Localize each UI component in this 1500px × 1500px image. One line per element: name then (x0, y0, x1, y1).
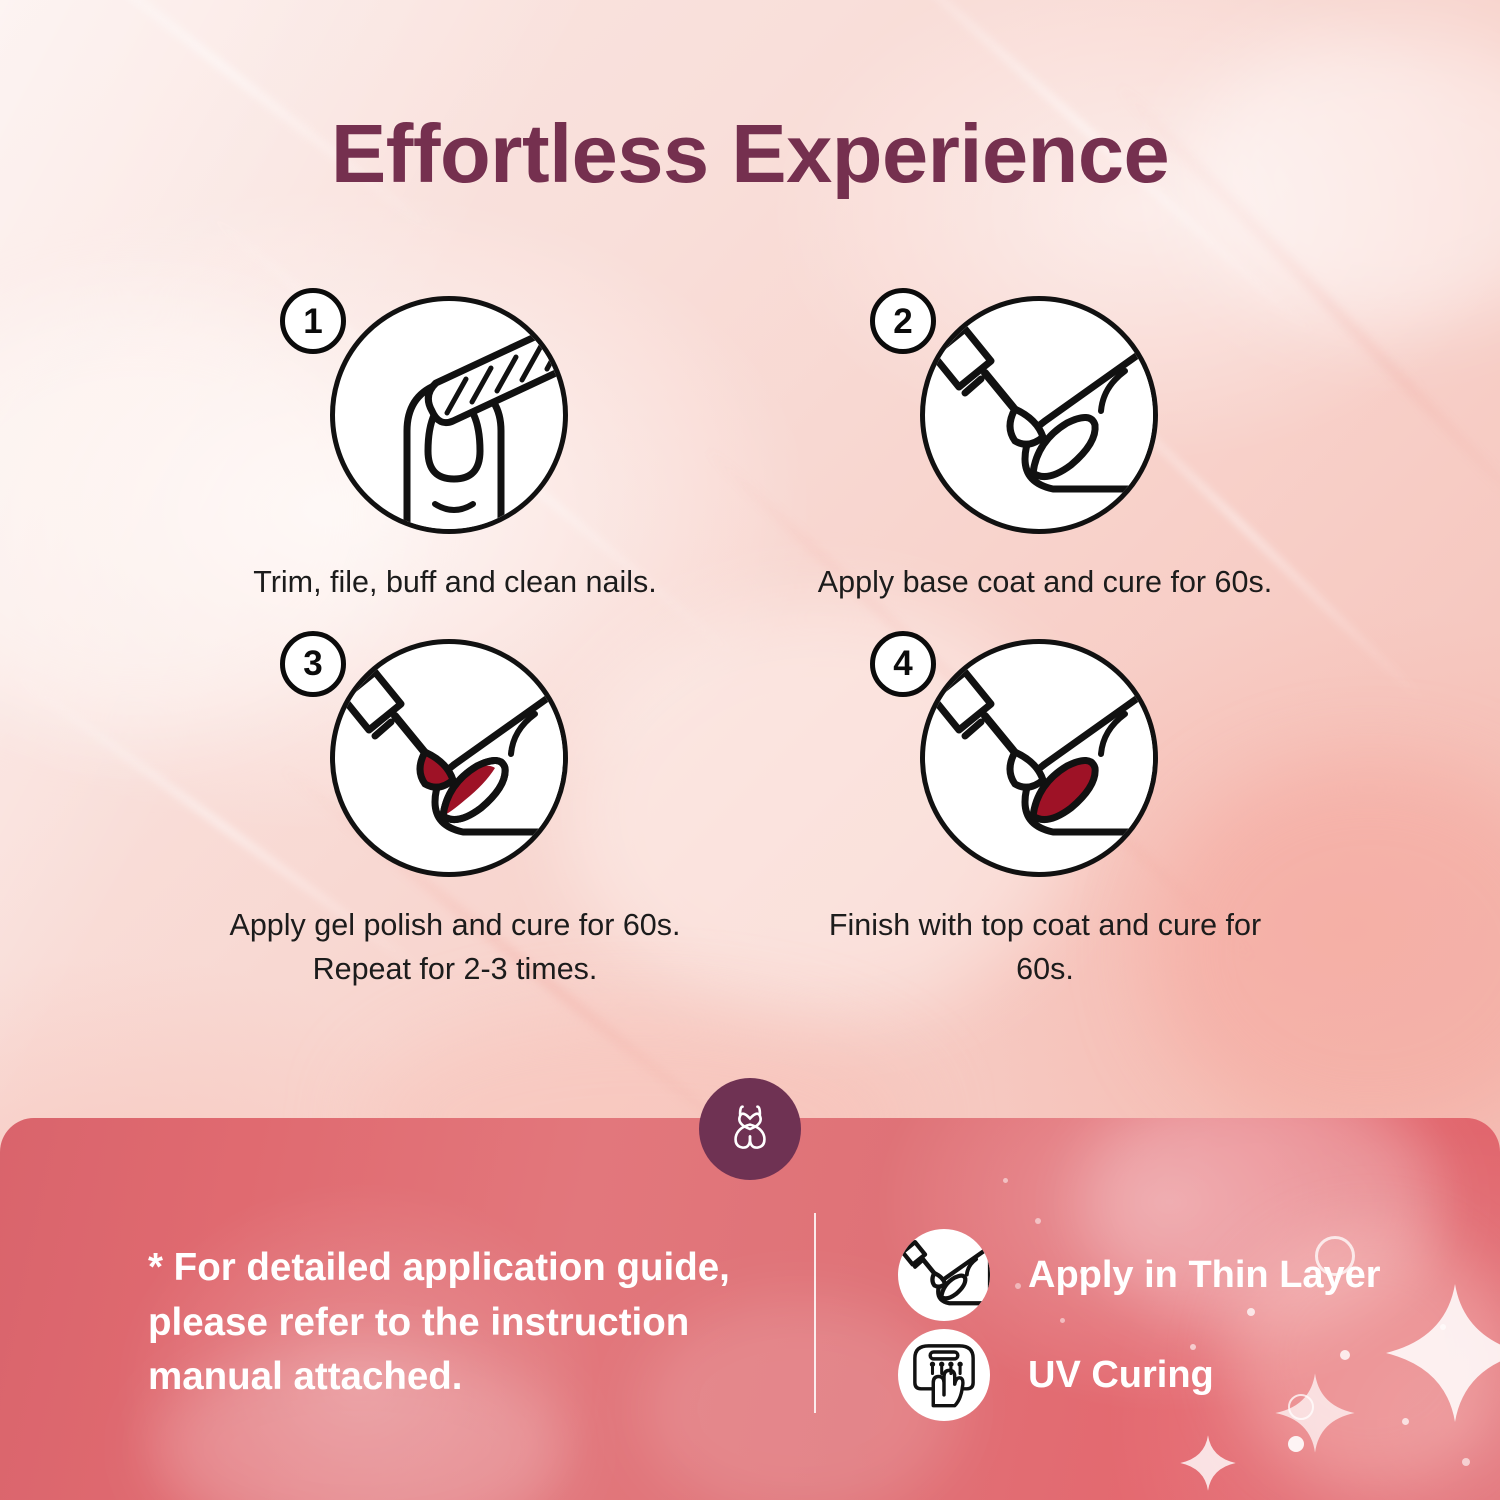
step-number-badge: 2 (870, 288, 936, 354)
page-title: Effortless Experience (0, 106, 1500, 202)
feature-uv-curing: UV Curing (898, 1329, 1214, 1421)
banner-note: * For detailed application guide, please… (148, 1241, 768, 1405)
feature-label: Apply in Thin Layer (1028, 1254, 1381, 1297)
step-number-badge: 3 (280, 631, 346, 697)
sparkle-star-icon (1270, 1368, 1360, 1458)
thin-layer-brush-icon (898, 1229, 990, 1321)
step-item-1: 1 Trim, file, buff and clean nails. (160, 288, 750, 605)
steps-grid: 1 Trim, file, buff and clean nails. (160, 288, 1340, 992)
step-item-3: 3 Apply gel polish and cure for 60s. Rep… (160, 605, 750, 992)
feature-label: UV Curing (1028, 1354, 1214, 1397)
step-caption: Finish with top coat and cure for 60s. (810, 903, 1280, 992)
nail-file-icon (330, 296, 568, 534)
feature-thin-layer: Apply in Thin Layer (898, 1229, 1381, 1321)
step-caption: Trim, file, buff and clean nails. (220, 560, 690, 605)
brand-logo-icon (699, 1078, 801, 1180)
top-coat-brush-icon (920, 639, 1158, 877)
sparkle-star-icon (1380, 1278, 1500, 1428)
banner-divider (814, 1213, 816, 1413)
step-caption: Apply base coat and cure for 60s. (810, 560, 1280, 605)
promo-graphic: Effortless Experience (0, 0, 1500, 1500)
sparkle-star-icon (1175, 1430, 1241, 1496)
step-number-badge: 4 (870, 631, 936, 697)
step-item-2: 2 Apply base coat and cure for 60s. (750, 288, 1340, 605)
gel-polish-brush-icon (330, 639, 568, 877)
steps-row-2: 3 Apply gel polish and cure for 60s. Rep… (160, 605, 1340, 992)
uv-lamp-icon (898, 1329, 990, 1421)
step-caption: Apply gel polish and cure for 60s. Repea… (220, 903, 690, 992)
step-item-4: 4 Finish with top coat and cure for 60s. (750, 605, 1340, 992)
step-number-badge: 1 (280, 288, 346, 354)
base-coat-brush-icon (920, 296, 1158, 534)
steps-row-1: 1 Trim, file, buff and clean nails. (160, 288, 1340, 605)
